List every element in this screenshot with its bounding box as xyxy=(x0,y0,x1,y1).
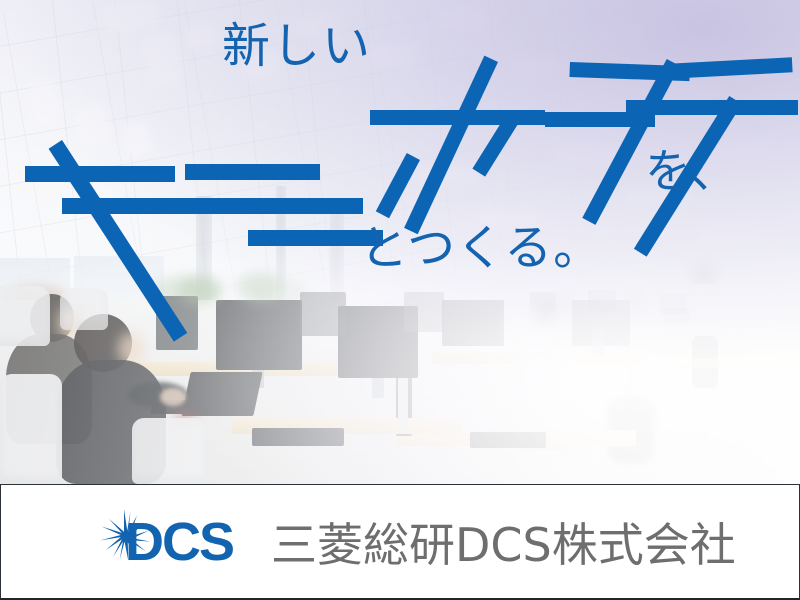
company-name: 三菱総研DCS株式会社 xyxy=(271,509,736,575)
photo-violet-tint xyxy=(0,0,800,484)
dcs-wordmark: DCS xyxy=(125,514,233,570)
brand-lockup[interactable]: DCS 三菱総研DCS株式会社 xyxy=(97,509,736,575)
office-photo xyxy=(0,0,800,484)
footer-bar: DCS 三菱総研DCS株式会社 xyxy=(0,484,800,600)
recruit-poster: 新しい を、 とつくる。 xyxy=(0,0,800,600)
dcs-logo[interactable]: DCS xyxy=(97,512,247,572)
